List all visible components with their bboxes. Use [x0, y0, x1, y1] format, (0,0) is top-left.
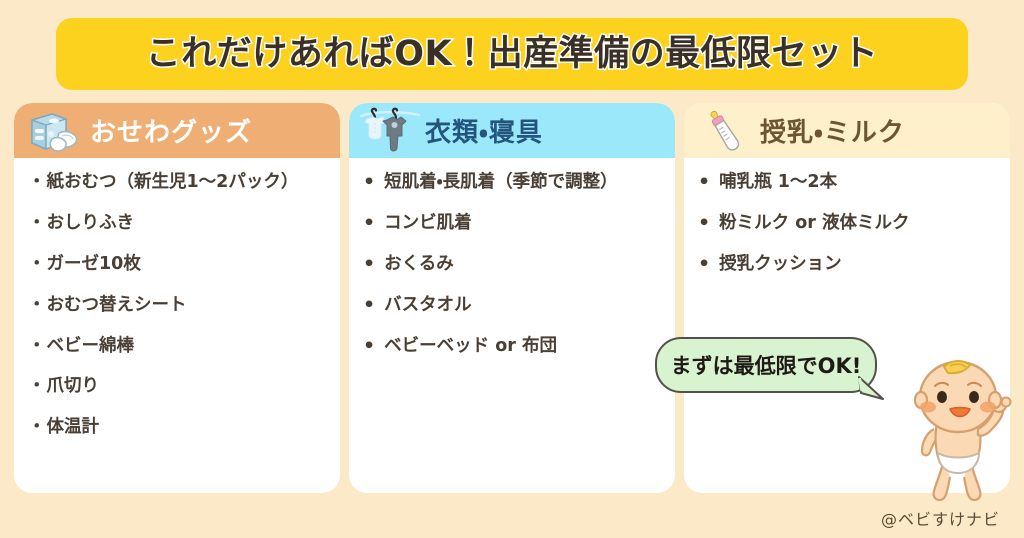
- baby-clothes-hanger-icon: [361, 106, 419, 156]
- bullet-icon: •: [363, 295, 375, 317]
- list-item-label: 短肌着・長肌着（季節で調整）: [384, 172, 617, 194]
- bullet-icon: •: [698, 254, 710, 276]
- speech-bubble: まずは最低限でOK!: [655, 337, 877, 393]
- bullet-icon: •: [363, 254, 375, 276]
- list-item: • 授乳クッション: [698, 254, 1000, 276]
- column-care-header: おせわグッズ: [14, 103, 340, 158]
- credit-handle: @ベビすけナビ: [881, 506, 1000, 530]
- speech-bubble-text: まずは最低限でOK!: [671, 350, 862, 380]
- bullet-icon: ・: [28, 254, 46, 276]
- list-item-label: 哺乳瓶 1〜2本: [719, 172, 837, 194]
- bullet-icon: •: [698, 213, 710, 235]
- list-item-label: 体温計: [47, 417, 100, 439]
- page-title: これだけあればOK！出産準備の最低限セット: [146, 37, 878, 72]
- baby-illustration: [900, 355, 1018, 505]
- list-item-label: バスタオル: [384, 295, 472, 317]
- list-item: ・ 爪切り: [28, 376, 330, 398]
- list-item-label: 紙おむつ（新生児1〜2パック）: [47, 172, 299, 194]
- list-item: ・ 体温計: [28, 417, 330, 439]
- list-item-label: おくるみ: [384, 254, 454, 276]
- list-item: ・ 紙おむつ（新生児1〜2パック）: [28, 172, 330, 194]
- list-item: ・ ガーゼ10枚: [28, 254, 330, 276]
- bullet-icon: ・: [28, 172, 46, 194]
- list-item: ・ おむつ替えシート: [28, 295, 330, 317]
- column-milk-list: • 哺乳瓶 1〜2本 • 粉ミルク or 液体ミルク • 授乳クッション: [684, 158, 1010, 305]
- list-item: • おくるみ: [363, 254, 665, 276]
- list-item: ・ おしりふき: [28, 213, 330, 235]
- bullet-icon: •: [363, 172, 375, 194]
- list-item: • ベビーベッド or 布団: [363, 336, 665, 358]
- bullet-icon: ・: [28, 376, 46, 398]
- columns-container: おせわグッズ ・ 紙おむつ（新生児1〜2パック） ・ おしりふき ・ ガーゼ10…: [14, 103, 1010, 493]
- speech-bubble-tail-icon: [857, 375, 885, 401]
- bullet-icon: •: [698, 172, 710, 194]
- column-care-list: ・ 紙おむつ（新生児1〜2パック） ・ おしりふき ・ ガーゼ10枚 ・ おむつ…: [14, 158, 340, 468]
- list-item-label: 授乳クッション: [719, 254, 842, 276]
- list-item-label: 粉ミルク or 液体ミルク: [719, 213, 909, 235]
- list-item: • コンビ肌着: [363, 213, 665, 235]
- list-item: • 短肌着・長肌着（季節で調整）: [363, 172, 665, 194]
- infographic-root: これだけあればOK！出産準備の最低限セット: [0, 0, 1024, 538]
- list-item-label: ベビー綿棒: [47, 336, 135, 358]
- diaper-box-icon: [26, 106, 84, 156]
- list-item-label: おしりふき: [47, 213, 135, 235]
- list-item-label: おむつ替えシート: [47, 295, 187, 317]
- column-care: おせわグッズ ・ 紙おむつ（新生児1〜2パック） ・ おしりふき ・ ガーゼ10…: [14, 103, 340, 493]
- list-item: ・ ベビー綿棒: [28, 336, 330, 358]
- list-item: • 粉ミルク or 液体ミルク: [698, 213, 1000, 235]
- bullet-icon: •: [363, 213, 375, 235]
- list-item-label: 爪切り: [47, 376, 100, 398]
- column-clothing: 衣類・寝具 • 短肌着・長肌着（季節で調整） • コンビ肌着 • おくるみ • …: [349, 103, 675, 493]
- column-milk-title: 授乳・ミルク: [760, 112, 905, 149]
- list-item: • 哺乳瓶 1〜2本: [698, 172, 1000, 194]
- list-item: • バスタオル: [363, 295, 665, 317]
- list-item-label: ベビーベッド or 布団: [384, 336, 557, 358]
- column-clothing-list: • 短肌着・長肌着（季節で調整） • コンビ肌着 • おくるみ • バスタオル …: [349, 158, 675, 386]
- column-clothing-title: 衣類・寝具: [425, 112, 543, 149]
- baby-bottle-icon: [696, 106, 754, 156]
- bullet-icon: ・: [28, 295, 46, 317]
- bullet-icon: ・: [28, 417, 46, 439]
- column-care-title: おせわグッズ: [90, 112, 252, 149]
- list-item-label: ガーゼ10枚: [47, 254, 141, 276]
- bullet-icon: •: [363, 336, 375, 358]
- bullet-icon: ・: [28, 336, 46, 358]
- bullet-icon: ・: [28, 213, 46, 235]
- column-milk-header: 授乳・ミルク: [684, 103, 1010, 158]
- column-clothing-header: 衣類・寝具: [349, 103, 675, 158]
- list-item-label: コンビ肌着: [384, 213, 472, 235]
- title-banner: これだけあればOK！出産準備の最低限セット: [56, 18, 968, 90]
